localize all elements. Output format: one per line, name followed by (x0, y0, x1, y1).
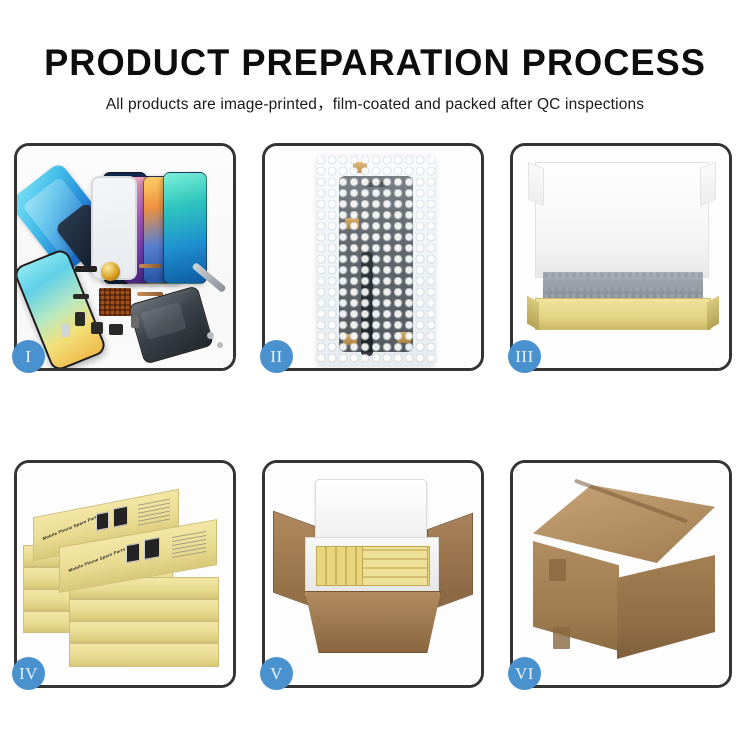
small-part-icon (73, 294, 89, 299)
step-panel-5: V (262, 460, 484, 688)
box-label: Mobile Phone Spare Parts (68, 546, 126, 573)
page-title: PRODUCT PREPARATION PROCESS (8, 44, 743, 83)
page-subtitle: All products are image-printed，film-coat… (0, 92, 750, 114)
small-part-icon (131, 316, 139, 328)
stacked-box (69, 621, 219, 643)
step-panel-6: VI (510, 460, 732, 688)
box-label: Mobile Phone Spare Parts (42, 513, 100, 541)
header: PRODUCT PREPARATION PROCESS All products… (0, 0, 750, 114)
small-part-icon (75, 312, 85, 326)
yellow-boxes-row (362, 546, 428, 586)
stacked-box (69, 599, 219, 621)
step-image-3 (513, 146, 729, 368)
step-image-2 (265, 146, 481, 368)
small-part-icon (109, 324, 123, 335)
foam-liner (305, 537, 439, 595)
step-image-5 (265, 463, 481, 685)
small-part-icon (91, 322, 103, 334)
step-badge-1: I (12, 340, 45, 373)
step-badge-3: III (508, 340, 541, 373)
step-image-6 (513, 463, 729, 685)
white-box-lid (535, 162, 709, 278)
carton-right-face (617, 555, 715, 659)
box-print-chip (113, 506, 128, 528)
flex-cable-icon (137, 292, 163, 296)
mesh-part-icon (99, 288, 131, 316)
box-stack: Mobile Phone Spare Parts Mobile Phone Sp… (23, 481, 229, 671)
step-panel-1: I (14, 143, 236, 371)
step-panel-4: Mobile Phone Spare Parts Mobile Phone Sp… (14, 460, 236, 688)
step-badge-2: II (260, 340, 293, 373)
box-print-chip (126, 543, 140, 563)
foam-lid (315, 479, 427, 543)
carton-loading-illustration (265, 463, 481, 685)
screw-icon (217, 342, 223, 348)
small-part-icon (75, 266, 97, 272)
step-badge-4: IV (12, 657, 45, 690)
stacked-box (69, 643, 219, 667)
carton-body (305, 591, 441, 653)
flex-cable-icon (139, 264, 161, 268)
step-panel-3: III (510, 143, 732, 371)
phone-chassis-icon (128, 285, 214, 364)
box-print-text-lines (172, 529, 206, 558)
step-badge-6: VI (508, 657, 541, 690)
small-part-icon (61, 324, 70, 337)
stacked-boxes-illustration: Mobile Phone Spare Parts Mobile Phone Sp… (17, 463, 233, 685)
product-preparation-infographic: PRODUCT PREPARATION PROCESS All products… (0, 0, 750, 750)
bubble-wrap-bag (317, 156, 435, 366)
bubble-wrap-illustration (265, 146, 481, 368)
process-steps-grid: I II (14, 143, 736, 688)
inner-box-illustration (513, 146, 729, 368)
step-badge-5: V (260, 657, 293, 690)
carton-tape-tab (553, 627, 570, 649)
carton-left-face (533, 541, 619, 651)
step-image-1 (17, 146, 233, 368)
step-image-4: Mobile Phone Spare Parts Mobile Phone Sp… (17, 463, 233, 685)
box-print-chip (144, 537, 160, 560)
coil-part-icon (101, 262, 120, 281)
box-print-text-lines (138, 498, 170, 526)
box-print-chip (96, 511, 109, 531)
yellow-box-tray (535, 298, 711, 330)
sealed-carton-illustration (513, 463, 729, 685)
step-panel-2: II (262, 143, 484, 371)
parts-overview-illustration (17, 146, 233, 368)
screw-icon (207, 332, 214, 339)
bubble-texture (317, 156, 435, 366)
carton-tape-tab (549, 559, 566, 581)
